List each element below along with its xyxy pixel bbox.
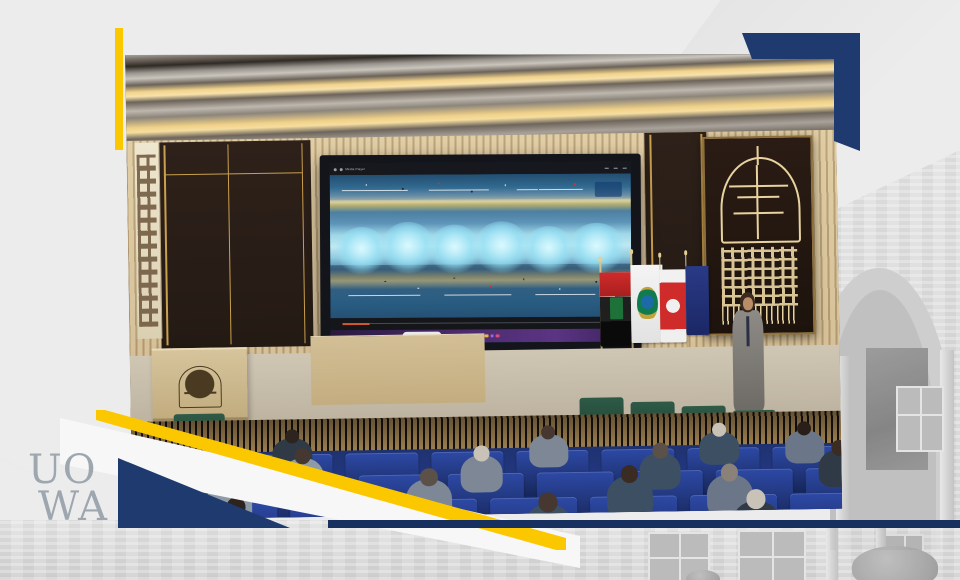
- logo-line-2: WA: [38, 489, 114, 526]
- iraq-flag: [600, 272, 633, 346]
- audience-head: [712, 423, 726, 437]
- close-icon[interactable]: [623, 168, 627, 169]
- palm-tree: [568, 223, 626, 274]
- backdrop-building-right: [830, 150, 960, 550]
- video-timestamp-badge: [594, 182, 621, 198]
- palm-tree: [335, 227, 387, 276]
- bracket-right-arm: [834, 33, 860, 151]
- seek-bar-track[interactable]: [342, 322, 620, 324]
- window-icon: [333, 168, 336, 171]
- audience-head: [295, 448, 311, 464]
- audience-head: [797, 422, 811, 436]
- presentation-screen[interactable]: Media Player: [319, 154, 641, 351]
- taskbar-icon[interactable]: [490, 334, 494, 338]
- speaker-face: [743, 297, 754, 310]
- maximize-icon[interactable]: [614, 168, 618, 169]
- taskbar-icon[interactable]: [484, 334, 488, 338]
- window-icon: [339, 168, 342, 171]
- window-controls[interactable]: [605, 168, 627, 169]
- palm-tree: [474, 222, 529, 275]
- screen-display: Media Player: [329, 162, 632, 344]
- panel-arch-motif: [720, 157, 801, 244]
- video-content: [329, 174, 631, 318]
- minimize-icon[interactable]: [605, 168, 609, 169]
- emblem-stem: [199, 373, 201, 395]
- road-upper: [329, 174, 631, 200]
- stage-dais: [310, 333, 485, 405]
- taskbar-icon[interactable]: [495, 334, 499, 338]
- palm-tree: [522, 226, 574, 275]
- red-white-flag: [659, 269, 686, 343]
- uowa-logo: UO WA: [28, 452, 114, 528]
- window: [738, 530, 806, 580]
- media-player-title: Media Player: [345, 168, 365, 172]
- navy-horizontal-bar: [328, 520, 960, 528]
- yellow-vertical-stripe: [115, 28, 123, 150]
- shrub: [852, 546, 938, 580]
- audience-head: [831, 440, 842, 456]
- pilaster: [826, 520, 838, 580]
- university-emblem: [173, 363, 227, 411]
- navy-flag: [685, 266, 709, 335]
- audience-head: [473, 446, 489, 462]
- window: [896, 386, 944, 452]
- palm-tree: [381, 222, 436, 275]
- seek-bar-progress: [342, 323, 369, 325]
- audience-head: [652, 443, 668, 459]
- screenshot-canvas: Media Player: [0, 0, 960, 580]
- speaker-tie: [746, 316, 750, 347]
- audience-head: [285, 430, 299, 444]
- navy-corner-bracket: [742, 33, 860, 151]
- speaker-at-podium: [732, 292, 764, 410]
- audience-head: [541, 426, 555, 440]
- lattice-ornament-strip: [133, 143, 163, 339]
